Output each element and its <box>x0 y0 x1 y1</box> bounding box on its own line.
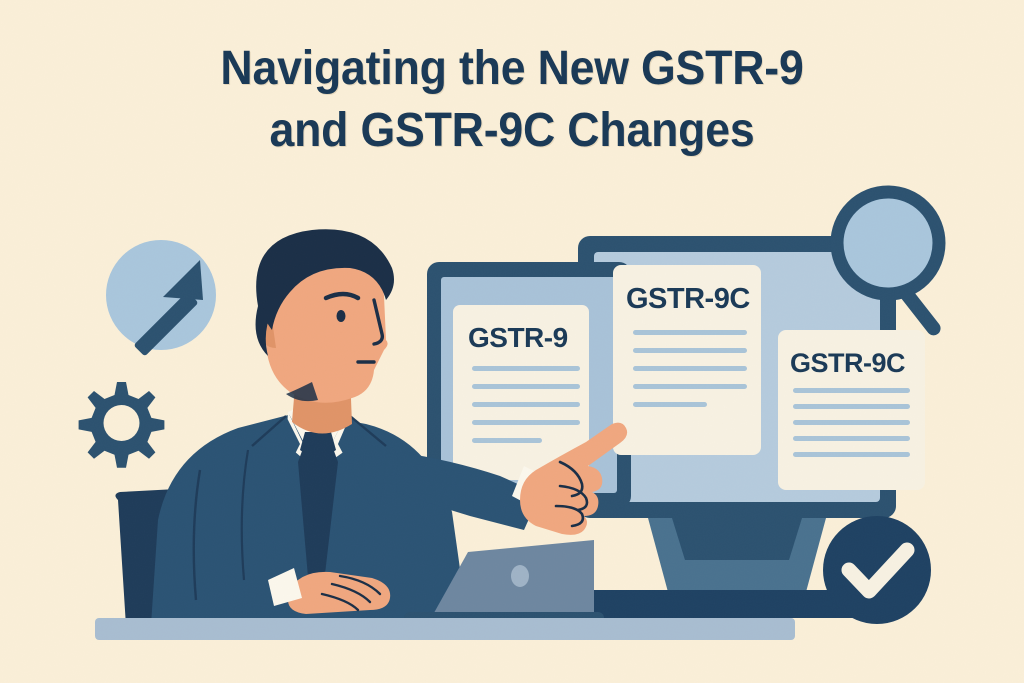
check-badge-icon <box>823 516 931 624</box>
doc-label-gstr9: GSTR-9 <box>468 322 568 353</box>
desk-surface <box>95 618 795 640</box>
illustration-canvas: GSTR-9 GSTR-9C GSTR-9C Navigating the Ne… <box>0 0 1024 683</box>
doc-label-gstr9c-right: GSTR-9C <box>790 348 905 378</box>
scene-illustration: GSTR-9 GSTR-9C GSTR-9C <box>0 0 1024 683</box>
gear-icon <box>79 382 165 468</box>
doc-label-gstr9c-center: GSTR-9C <box>626 283 750 315</box>
